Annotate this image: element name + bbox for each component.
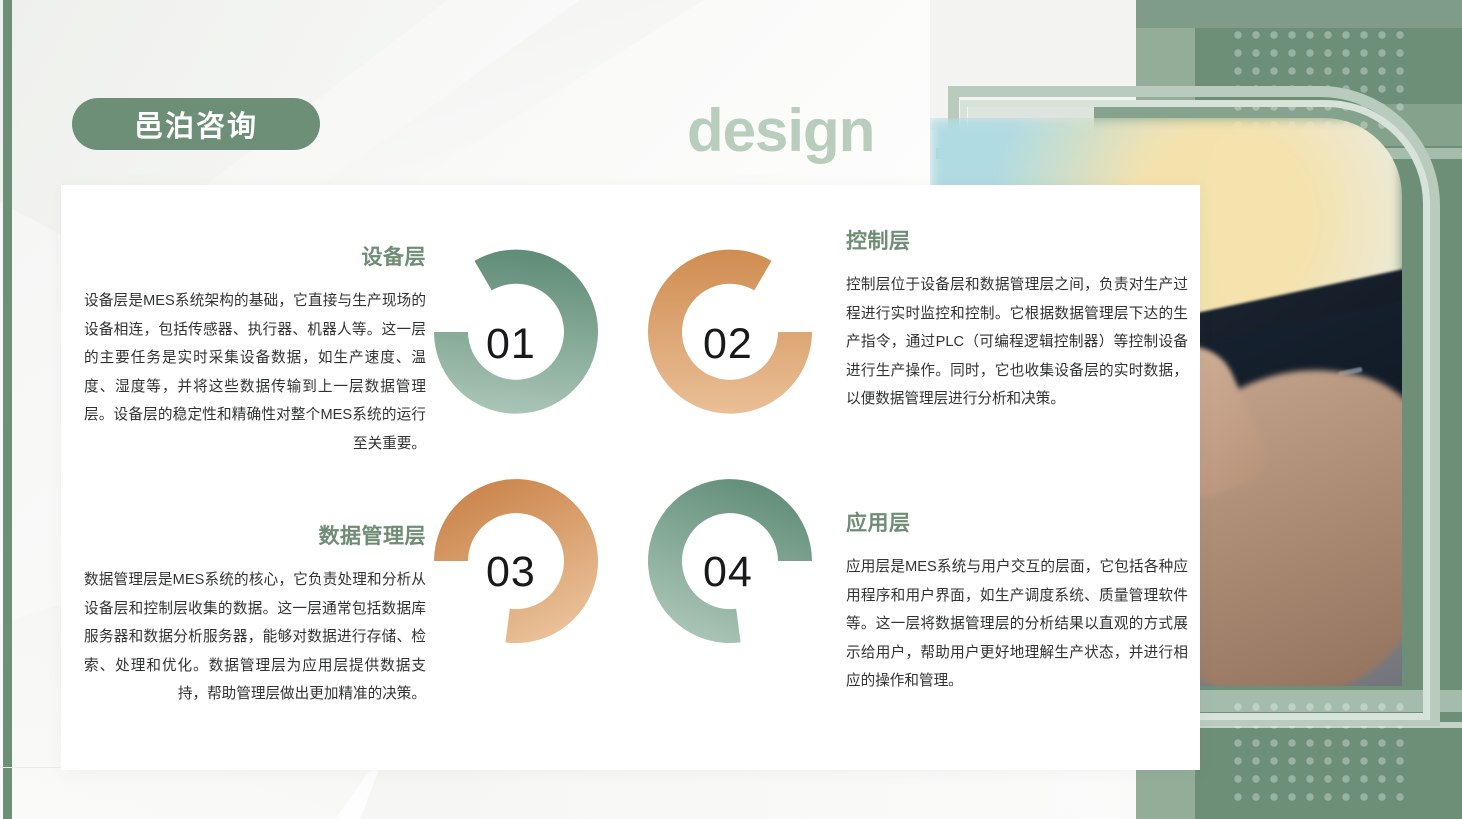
donut-number-04: 04 (703, 548, 753, 597)
layer-title-application: 应用层 (846, 507, 1188, 537)
slide-canvas: 邑泊咨询 design 设备层 设备层是MES系统架构的基础，它直接与生产现场的… (0, 0, 1462, 819)
layer-block-equipment: 设备层 设备层是MES系统架构的基础，它直接与生产现场的设备相连，包括传感器、执… (84, 241, 426, 459)
layer-block-data-management: 数据管理层 数据管理层是MES系统的核心，它负责处理和分析从设备层和控制层收集的… (84, 520, 426, 709)
donut-number-01: 01 (486, 320, 536, 369)
layer-body-control: 控制层位于设备层和数据管理层之间，负责对生产过程进行实时监控和控制。它根据数据管… (846, 271, 1188, 414)
layer-title-data-management: 数据管理层 (84, 520, 426, 550)
layer-body-equipment: 设备层是MES系统架构的基础，它直接与生产现场的设备相连，包括传感器、执行器、机… (84, 287, 426, 459)
left-edge-stripe (3, 0, 12, 819)
layer-block-application: 应用层 应用层是MES系统与用户交互的层面，它包括各种应用程序和用户界面，如生产… (846, 507, 1188, 696)
donut-number-03: 03 (486, 548, 536, 597)
layer-body-application: 应用层是MES系统与用户交互的层面，它包括各种应用程序和用户界面，如生产调度系统… (846, 553, 1188, 696)
layer-title-control: 控制层 (846, 225, 1188, 255)
brand-logo-badge[interactable]: 邑泊咨询 (72, 98, 320, 150)
donut-number-02: 02 (703, 320, 753, 369)
brand-logo-text: 邑泊咨询 (134, 103, 258, 145)
layer-block-control: 控制层 控制层位于设备层和数据管理层之间，负责对生产过程进行实时监控和控制。它根… (846, 225, 1188, 414)
design-watermark-text: design (687, 96, 874, 165)
layer-title-equipment: 设备层 (84, 241, 426, 271)
layer-body-data-management: 数据管理层是MES系统的核心，它负责处理和分析从设备层和控制层收集的数据。这一层… (84, 566, 426, 709)
